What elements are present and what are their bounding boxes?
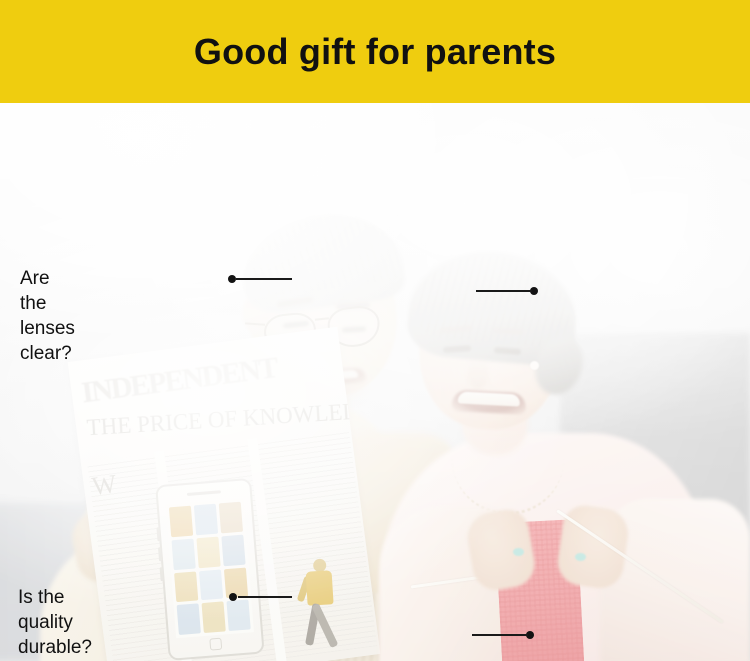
callout-comfortable-leader (472, 634, 528, 636)
phone-app-tile (196, 536, 220, 567)
callout-lenses-dot (228, 275, 236, 283)
callout-lenses-label: Are the lenses clear? (20, 266, 75, 366)
phone-app-tile (171, 538, 195, 569)
woman-nose (468, 351, 488, 389)
eyeglasses-bridge (315, 317, 329, 321)
earring (530, 361, 539, 370)
fingernail (513, 548, 524, 556)
newspaper-dropcap: W (90, 469, 118, 502)
phone-app-tile (202, 602, 226, 633)
smartphone-illustration (155, 478, 265, 661)
callout-durable-label: Is the quality durable? (18, 585, 92, 660)
lifestyle-photo: INDEPENDENT THE PRICE OF KNOWLEDGE W (0, 103, 750, 661)
phone-app-tile (221, 534, 245, 565)
phone-silent-switch (160, 567, 164, 581)
phone-app-tile (194, 504, 218, 535)
phone-app-tile (169, 506, 193, 537)
callout-lenses-leader (236, 278, 292, 280)
phone-volume-button (158, 547, 162, 561)
callout-durable-dot (229, 593, 237, 601)
callout-durable-leader (238, 596, 292, 598)
phone-app-tile (174, 571, 198, 602)
page-title: Good gift for parents (194, 34, 556, 70)
walking-person-illustration (295, 557, 355, 656)
header-banner: Good gift for parents (0, 0, 750, 103)
phone-app-tile (177, 604, 201, 635)
phone-app-tile (226, 600, 250, 631)
fingernail (575, 553, 586, 561)
callout-carry-leader (476, 290, 532, 292)
walker-torso (306, 570, 334, 606)
phone-speaker (187, 490, 221, 496)
product-infographic: Good gift for parents (0, 0, 750, 661)
phone-app-tile (199, 569, 223, 600)
phone-app-tile (219, 502, 243, 533)
phone-home-button (209, 638, 222, 651)
phone-screen (166, 499, 254, 639)
phone-volume-button (156, 527, 160, 541)
newspaper: INDEPENDENT THE PRICE OF KNOWLEDGE W (68, 327, 381, 661)
